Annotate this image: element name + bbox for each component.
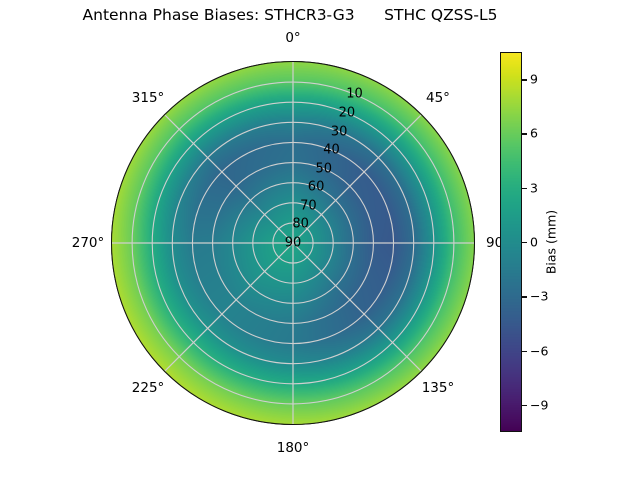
colorbar-tick-label: 3 [530, 180, 538, 195]
colorbar-gradient [500, 52, 522, 432]
colorbar-tick-label: 9 [530, 72, 538, 87]
colorbar-tick-label: −9 [530, 397, 548, 412]
theta-tick-label-0: 0° [285, 30, 300, 46]
colorbar-tick-label: 6 [530, 126, 538, 141]
colorbar-tick-mark [522, 242, 527, 243]
theta-tick-label-225: 225° [132, 380, 165, 396]
colorbar-tick-label: −3 [530, 289, 548, 304]
theta-tick-label-135: 135° [422, 380, 455, 396]
colorbar-tick-mark [522, 79, 527, 80]
colorbar-tick-mark [522, 405, 527, 406]
r-tick-label-50: 50 [316, 161, 333, 176]
theta-tick-label-45: 45° [426, 90, 450, 106]
r-tick-label-60: 60 [308, 180, 325, 195]
figure-canvas: Antenna Phase Biases: STHCR3-G3 STHC QZS… [0, 0, 640, 480]
theta-tick-label-180: 180° [277, 440, 310, 456]
colorbar-tick-mark [522, 188, 527, 189]
r-tick-label-10: 10 [346, 87, 363, 102]
colorbar-tick-mark [522, 351, 527, 352]
colorbar-tick-label: −6 [530, 343, 548, 358]
colorbar-tick-label: 0 [530, 235, 538, 250]
colorbar-tick-mark [522, 133, 527, 134]
theta-tick-label-270: 270° [72, 235, 105, 251]
colorbar[interactable] [500, 52, 522, 432]
r-tick-label-30: 30 [331, 124, 348, 139]
colorbar-tick-mark [522, 296, 527, 297]
r-tick-label-90: 90 [285, 236, 302, 251]
r-tick-label-40: 40 [323, 143, 340, 158]
theta-tick-label-315: 315° [132, 90, 165, 106]
page-title: Antenna Phase Biases: STHCR3-G3 STHC QZS… [0, 6, 580, 24]
r-tick-label-80: 80 [292, 217, 309, 232]
r-tick-label-20: 20 [339, 105, 356, 120]
r-tick-label-70: 70 [300, 198, 317, 213]
colorbar-axis-label: Bias (mm) [544, 210, 559, 274]
